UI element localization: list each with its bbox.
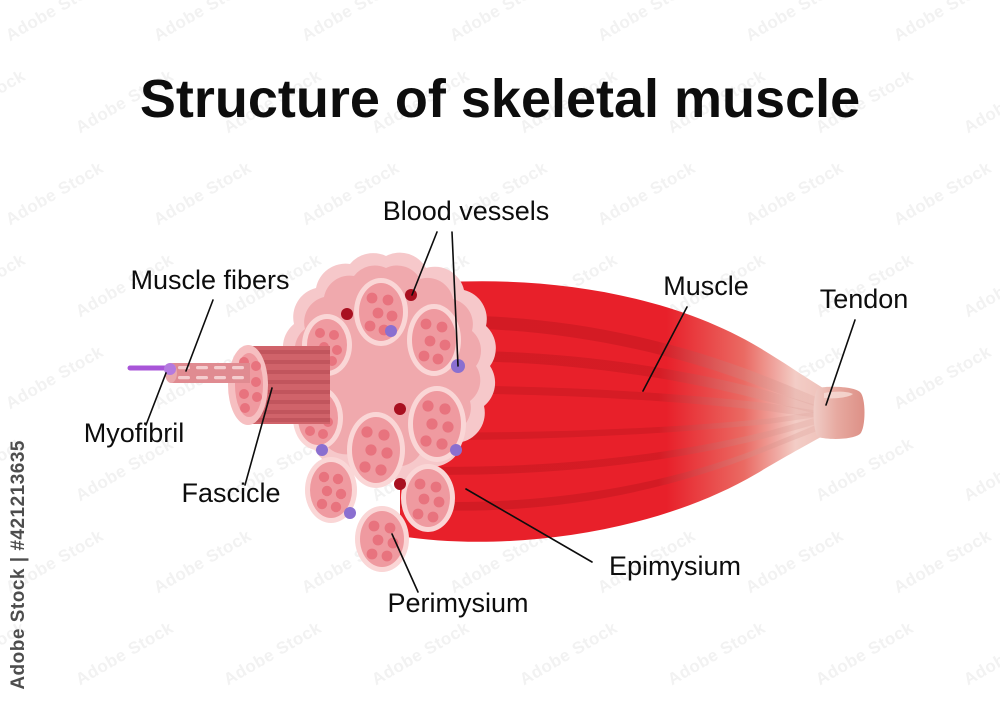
fascicle-cylinder-group xyxy=(228,345,330,425)
label-blood_vessels: Blood vessels xyxy=(383,196,550,226)
label-muscle: Muscle xyxy=(663,271,749,301)
tendon-group xyxy=(814,387,865,439)
stock-id-watermark: Adobe Stock | #421213635 xyxy=(8,440,30,690)
label-tendon: Tendon xyxy=(820,284,909,314)
fascicle-ovals xyxy=(293,278,466,572)
muscle-fiber-tube-group xyxy=(165,363,250,383)
myofibril-group xyxy=(130,363,176,375)
label-muscle_fibers: Muscle fibers xyxy=(130,265,289,295)
label-epimysium: Epimysium xyxy=(609,551,741,581)
label-myofibril: Myofibril xyxy=(84,418,185,448)
skeletal-muscle-figure: Structure of skeletal muscle Blood vesse… xyxy=(0,0,1000,702)
page-title: Structure of skeletal muscle xyxy=(140,69,860,129)
diagram-canvas: Adobe StockAdobe StockAdobe StockAdobe S… xyxy=(0,0,1000,702)
leader-line-muscle-fibers xyxy=(186,300,213,371)
label-fascicle: Fascicle xyxy=(181,478,280,508)
label-perimysium: Perimysium xyxy=(387,588,528,618)
